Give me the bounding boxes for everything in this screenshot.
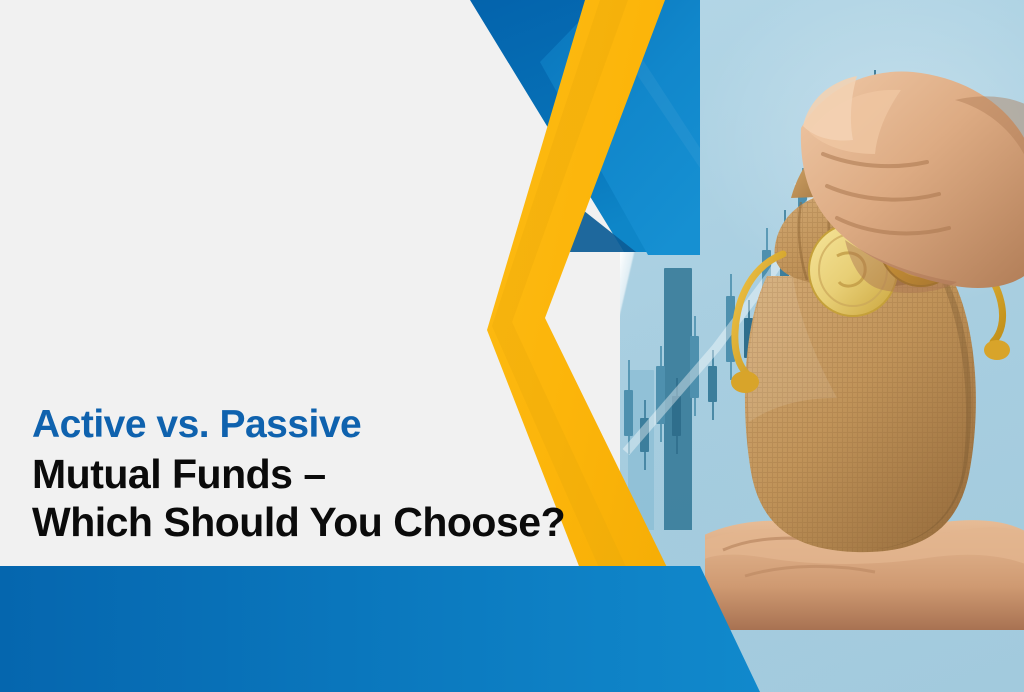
title-line-3: Which Should You Choose? [32, 499, 652, 547]
banner-root: Active vs. Passive Mutual Funds – Which … [0, 0, 1024, 692]
page-title: Active vs. Passive Mutual Funds – Which … [32, 402, 652, 546]
title-line-2: Mutual Funds – [32, 451, 652, 499]
bottom-blue-band [0, 566, 760, 692]
title-line-1: Active vs. Passive [32, 402, 652, 447]
shape-layer [0, 0, 1024, 692]
